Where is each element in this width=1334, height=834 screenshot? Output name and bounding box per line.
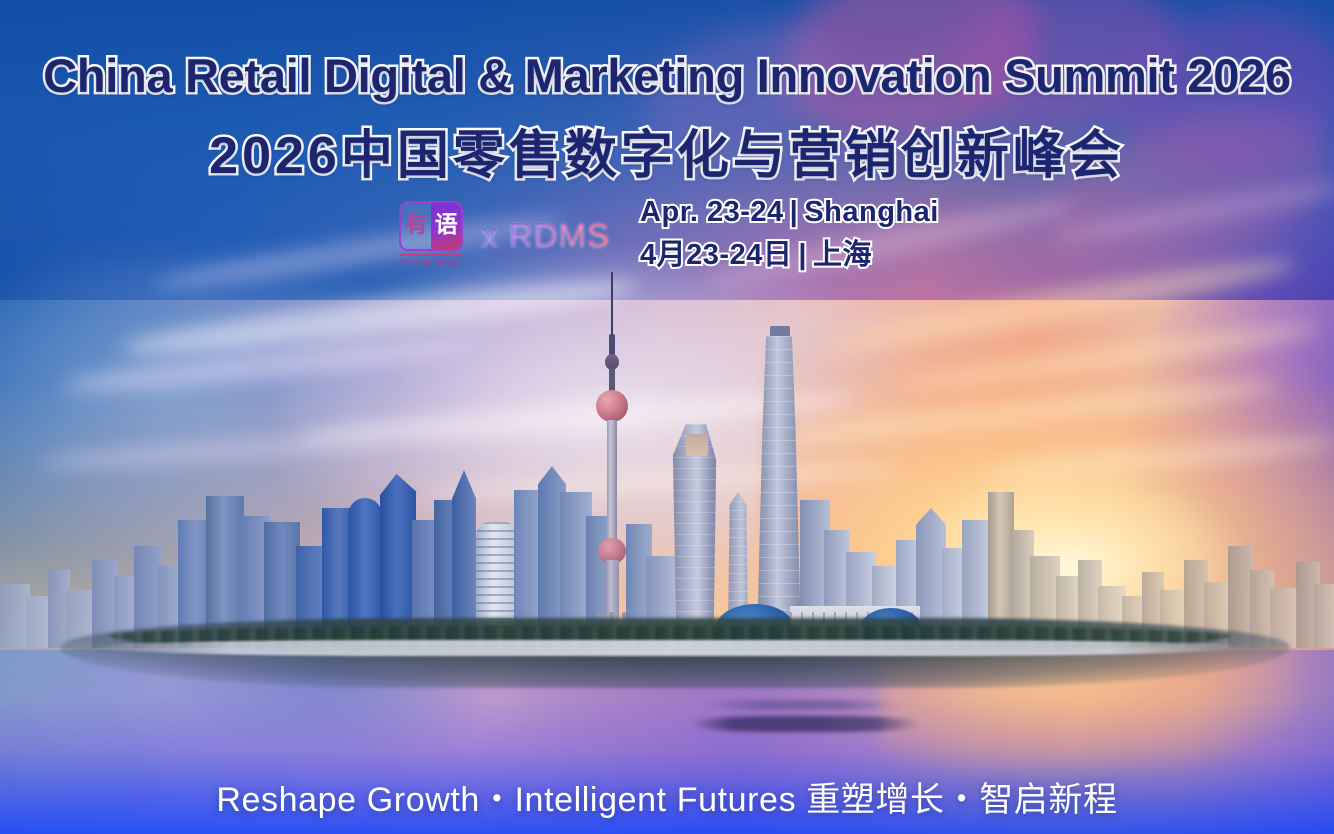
tagline-row: Reshape Growth・Intelligent Futures 重塑增长・… [0, 772, 1334, 821]
event-tagline: Reshape Growth・Intelligent Futures 重塑增长・… [216, 772, 1117, 821]
logo-underline [400, 254, 462, 256]
shanghai-tower-window-bands [756, 336, 802, 648]
tower-shaft-mid [607, 420, 617, 546]
date-separator-cn: | [792, 239, 813, 271]
swfc-aperture [686, 434, 708, 456]
building [1314, 584, 1334, 648]
yuwoo-logo: 有 语 YUWOO [395, 201, 467, 269]
date-separator: | [784, 196, 805, 228]
boat-wake [700, 700, 900, 710]
date-location-en: Apr. 23-24|Shanghai [640, 196, 939, 229]
event-banner: China Retail Digital & Marketing Innovat… [0, 0, 1334, 834]
date-location-cn: 4月23-24日|上海 [640, 231, 939, 273]
city-en: Shanghai [804, 196, 939, 228]
swfc-window-bands [672, 424, 718, 648]
logo-lockup: 有 语 YUWOO x RDMS [395, 201, 610, 269]
logo-wordmark: YUWOO [400, 258, 461, 269]
logo-char-right: 语 [431, 203, 461, 249]
partner-lockup-rdms: x RDMS [481, 216, 610, 254]
riverside-promenade [90, 640, 1250, 656]
tower-antenna [611, 272, 613, 342]
date-cn: 4月23-24日 [640, 239, 792, 271]
date-location-block: Apr. 23-24|Shanghai 4月23-24日|上海 [640, 196, 939, 273]
tower-upper-sphere [596, 390, 628, 422]
shanghai-skyline [0, 0, 1334, 700]
city-cn: 上海 [813, 239, 872, 271]
logo-frame-icon: 有 语 [399, 201, 463, 251]
logo-and-date-row: 有 语 YUWOO x RDMS Apr. 23-24|Shanghai 4月2… [0, 196, 1334, 273]
page-title: China Retail Digital & Marketing Innovat… [0, 48, 1334, 103]
boat-silhouette [690, 716, 920, 732]
logo-char-left: 有 [401, 203, 431, 249]
date-en: Apr. 23-24 [640, 196, 784, 228]
tower-shaft-lower [605, 560, 619, 620]
page-title-chinese: 2026中国零售数字化与营销创新峰会 [0, 113, 1334, 188]
